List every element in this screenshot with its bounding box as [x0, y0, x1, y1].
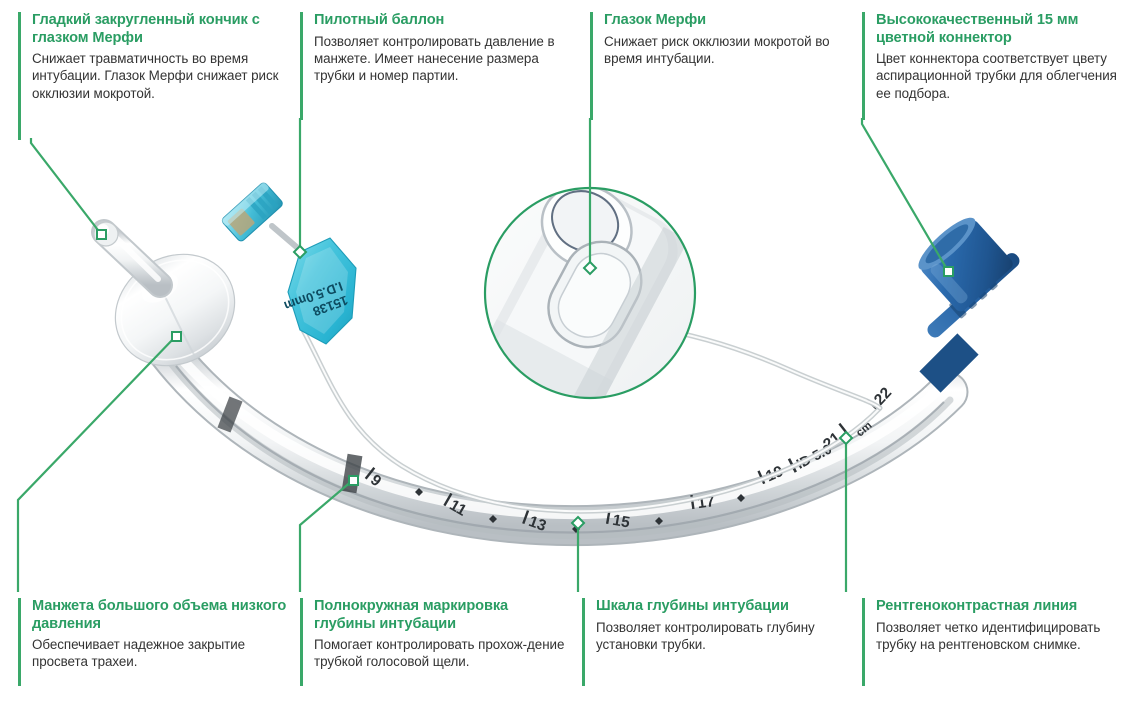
callout-murphy-title: Глазок Мерфи: [604, 12, 840, 30]
callout-radiopaque: Рентгеноконтрастная линия Позволяет четк…: [862, 598, 1134, 653]
callout-pilot-body: Позволяет контролировать давление в манж…: [314, 33, 568, 85]
callout-connector-title: Высококачественный 15 мм цветной коннект…: [876, 12, 1134, 47]
callout-pilot-title: Пилотный баллон: [314, 12, 568, 30]
accent-bar: [18, 12, 21, 140]
accent-bar: [300, 12, 303, 120]
accent-bar: [582, 598, 585, 686]
accent-bar: [18, 598, 21, 686]
callout-depth-scale: Шкала глубины интубации Позволяет контро…: [582, 598, 844, 653]
callout-murphy-body: Снижает риск окклюзии мокротой во время …: [604, 33, 840, 68]
callout-connector-body: Цвет коннектора соответствует цвету аспи…: [876, 50, 1134, 102]
callout-ring-body: Помогает контролировать прохож-дение тру…: [314, 636, 572, 671]
callout-cuff-title: Манжета большого объема низкого давления: [32, 598, 290, 633]
callout-pilot-balloon: Пилотный баллон Позволяет контролировать…: [300, 12, 568, 85]
callout-connector: Высококачественный 15 мм цветной коннект…: [862, 12, 1134, 102]
connector-15mm: [912, 211, 1024, 382]
infographic-stage: 9 11 13 15 17 19: [0, 0, 1140, 701]
pilot-balloon: 15138 I.D.5.0mm: [221, 181, 356, 344]
callout-tip-title: Гладкий закругленный кончик с глазком Ме…: [32, 12, 286, 47]
callout-tip-body: Снижает травматичность во время интубаци…: [32, 50, 286, 102]
accent-bar: [862, 598, 865, 686]
murphy-eye-magnifier: [455, 170, 695, 443]
callout-murphy-eye: Глазок Мерфи Снижает риск окклюзии мокро…: [590, 12, 840, 67]
callout-ring-title: Полнокружная маркировка глубины интубаци…: [314, 598, 572, 633]
accent-bar: [300, 598, 303, 686]
callout-radiopaque-title: Рентгеноконтрастная линия: [876, 598, 1134, 616]
accent-bar: [862, 12, 865, 120]
callout-scale-title: Шкала глубины интубации: [596, 598, 844, 616]
accent-bar: [590, 12, 593, 120]
tube-tip: [94, 222, 160, 285]
callout-cuff-body: Обеспечивает надежное закрытие просвета …: [32, 636, 290, 671]
callout-scale-body: Позволяет контролировать глубину установ…: [596, 619, 844, 654]
product-illustration: 9 11 13 15 17 19: [0, 0, 1140, 701]
callout-radiopaque-body: Позволяет четко идентифицировать трубку …: [876, 619, 1134, 654]
callout-ring-marking: Полнокружная маркировка глубины интубаци…: [300, 598, 572, 671]
callout-tip: Гладкий закругленный кончик с глазком Ме…: [18, 12, 286, 102]
svg-text:15: 15: [611, 512, 631, 532]
callout-cuff: Манжета большого объема низкого давления…: [18, 598, 290, 671]
